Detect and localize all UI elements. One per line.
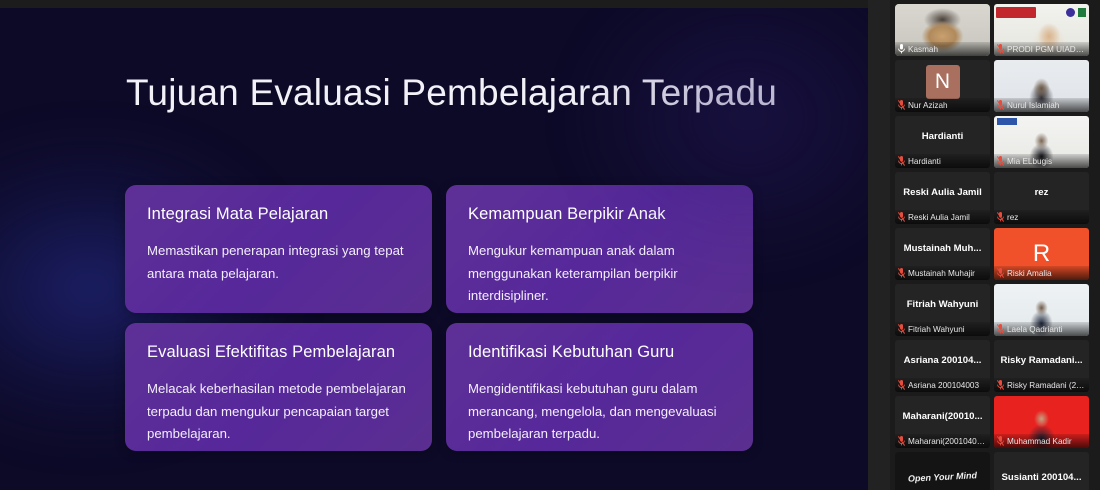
participant-display-name: Risky Ramadani... [996, 355, 1086, 366]
participant-name-bar: Risky Ramadani (200... [994, 378, 1089, 392]
participant-name: Muhammad Kadir [1007, 437, 1072, 446]
participant-name: Riski Amalia [1007, 269, 1052, 278]
participant-display-name: Susianti 200104... [998, 472, 1086, 483]
participant-name-bar: Riski Amalia [994, 266, 1089, 280]
participant-tile[interactable]: PRODI PGM UIAD S... [994, 4, 1089, 56]
panel-divider [868, 0, 890, 490]
slide-card-body: Melacak keberhasilan metode pembelajaran… [147, 378, 410, 446]
participant-display-name: Asriana 200104... [900, 355, 986, 366]
participant-name-bar: Asriana 200104003 [895, 378, 990, 392]
participant-name-bar: PRODI PGM UIAD S... [994, 42, 1089, 56]
participant-tile[interactable]: Susianti 200104... [994, 452, 1089, 490]
muted-microphone-icon [898, 268, 905, 278]
participant-tile[interactable]: N Nur Azizah [895, 60, 990, 112]
participant-display-name: rez [1031, 187, 1053, 198]
participant-name: Risky Ramadani (200... [1007, 381, 1086, 390]
slide-card: Integrasi Mata Pelajaran Memastikan pene… [125, 185, 432, 313]
participant-tile[interactable]: Risky Ramadani... Risky Ramadani (200... [994, 340, 1089, 392]
slide-card-title: Kemampuan Berpikir Anak [468, 205, 731, 224]
participant-tile[interactable]: Hardianti Hardianti [895, 116, 990, 168]
participant-name-bar: Muhammad Kadir [994, 434, 1089, 448]
participant-name: Mia ELbugis [1007, 157, 1052, 166]
participant-tile[interactable]: rez rez [994, 172, 1089, 224]
participant-name: Maharani(200104016) [908, 437, 987, 446]
participant-name: rez [1007, 213, 1018, 222]
participant-display-name: Reski Aulia Jamil [899, 187, 986, 198]
slide-card: Evaluasi Efektifitas Pembelajaran Melaca… [125, 323, 432, 451]
participant-name-bar: Mustainah Muhajir [895, 266, 990, 280]
muted-microphone-icon [898, 436, 905, 446]
muted-microphone-icon [997, 212, 1004, 222]
participant-name-bar: Reski Aulia Jamil [895, 210, 990, 224]
muted-microphone-icon [898, 100, 905, 110]
video-overlay-banner [997, 118, 1017, 125]
muted-microphone-icon [997, 380, 1004, 390]
participant-tile[interactable]: Fitriah Wahyuni Fitriah Wahyuni [895, 284, 990, 336]
slide-title: Tujuan Evaluasi Pembelajaran Terpadu [126, 72, 777, 114]
participant-name: Nurul Islamiah [1007, 101, 1059, 110]
participant-name-bar: Nur Azizah [895, 98, 990, 112]
participant-name-bar: Laela Qadrianti [994, 322, 1089, 336]
participant-tile[interactable]: Asriana 200104... Asriana 200104003 [895, 340, 990, 392]
participant-tile[interactable]: Mustainah Muh... Mustainah Muhajir [895, 228, 990, 280]
participant-tile[interactable]: Open Your Mind [895, 452, 990, 490]
participant-tile[interactable]: Reski Aulia Jamil Reski Aulia Jamil [895, 172, 990, 224]
slide-card: Kemampuan Berpikir Anak Mengukur kemampu… [446, 185, 753, 313]
participant-name: Reski Aulia Jamil [908, 213, 970, 222]
participant-tile[interactable]: Maharani(20010... Maharani(200104016) [895, 396, 990, 448]
muted-microphone-icon [997, 156, 1004, 166]
slide-card-title: Integrasi Mata Pelajaran [147, 205, 410, 224]
participant-name: Hardianti [908, 157, 941, 166]
participant-display-name: Maharani(20010... [899, 411, 987, 422]
muted-microphone-icon [997, 268, 1004, 278]
participant-name-bar: Fitriah Wahyuni [895, 322, 990, 336]
participant-tile[interactable]: R Riski Amalia [994, 228, 1089, 280]
participant-name-bar: Kasmah [895, 42, 990, 56]
muted-microphone-icon [997, 324, 1004, 334]
participant-name-bar: Hardianti [895, 154, 990, 168]
participant-avatar: N [926, 65, 960, 99]
participant-display-name: Hardianti [918, 131, 968, 142]
participant-tile[interactable]: Muhammad Kadir [994, 396, 1089, 448]
participant-name-bar: Mia ELbugis [994, 154, 1089, 168]
muted-microphone-icon [898, 212, 905, 222]
muted-microphone-icon [997, 100, 1004, 110]
slide-card-body: Mengukur kemampuan anak dalam menggunaka… [468, 240, 731, 308]
muted-microphone-icon [997, 44, 1004, 54]
participant-name: Nur Azizah [908, 101, 948, 110]
institution-logo-icon [1066, 8, 1075, 17]
muted-microphone-icon [898, 156, 905, 166]
microphone-icon [898, 44, 905, 54]
muted-microphone-icon [898, 324, 905, 334]
institution-logo-icon [1078, 8, 1086, 17]
participant-name: Mustainah Muhajir [908, 269, 975, 278]
participant-tile[interactable]: Mia ELbugis [994, 116, 1089, 168]
participant-tile[interactable]: Kasmah [895, 4, 990, 56]
shared-screen-region[interactable]: Tujuan Evaluasi Pembelajaran Terpadu Int… [0, 8, 868, 490]
participant-tile-grid: Kasmah PRODI PGM UIAD S... [890, 0, 1100, 490]
participant-tile[interactable]: Nurul Islamiah [994, 60, 1089, 112]
slide-card: Identifikasi Kebutuhan Guru Mengidentifi… [446, 323, 753, 451]
participant-name-bar: Nurul Islamiah [994, 98, 1089, 112]
participant-name-bar: Maharani(200104016) [895, 434, 990, 448]
presentation-slide: Tujuan Evaluasi Pembelajaran Terpadu Int… [0, 8, 868, 490]
slide-card-grid: Integrasi Mata Pelajaran Memastikan pene… [125, 185, 753, 451]
participant-name: PRODI PGM UIAD S... [1007, 45, 1086, 54]
slide-card-title: Evaluasi Efektifitas Pembelajaran [147, 343, 410, 362]
participant-filmstrip[interactable]: Kasmah PRODI PGM UIAD S... [890, 0, 1100, 490]
participant-name-bar: rez [994, 210, 1089, 224]
participant-name: Asriana 200104003 [908, 381, 979, 390]
slide-card-body: Memastikan penerapan integrasi yang tepa… [147, 240, 410, 285]
zoom-meeting-window: Tujuan Evaluasi Pembelajaran Terpadu Int… [0, 0, 1100, 490]
participant-name: Laela Qadrianti [1007, 325, 1063, 334]
slide-card-title: Identifikasi Kebutuhan Guru [468, 343, 731, 362]
participant-display-name: Mustainah Muh... [900, 243, 986, 254]
muted-microphone-icon [997, 436, 1004, 446]
participant-name: Fitriah Wahyuni [908, 325, 965, 334]
participant-name: Kasmah [908, 45, 938, 54]
muted-microphone-icon [898, 380, 905, 390]
participant-tile[interactable]: Laela Qadrianti [994, 284, 1089, 336]
participant-display-name: Fitriah Wahyuni [903, 299, 983, 310]
slide-card-body: Mengidentifikasi kebutuhan guru dalam me… [468, 378, 731, 446]
video-overlay-banner [996, 7, 1036, 18]
